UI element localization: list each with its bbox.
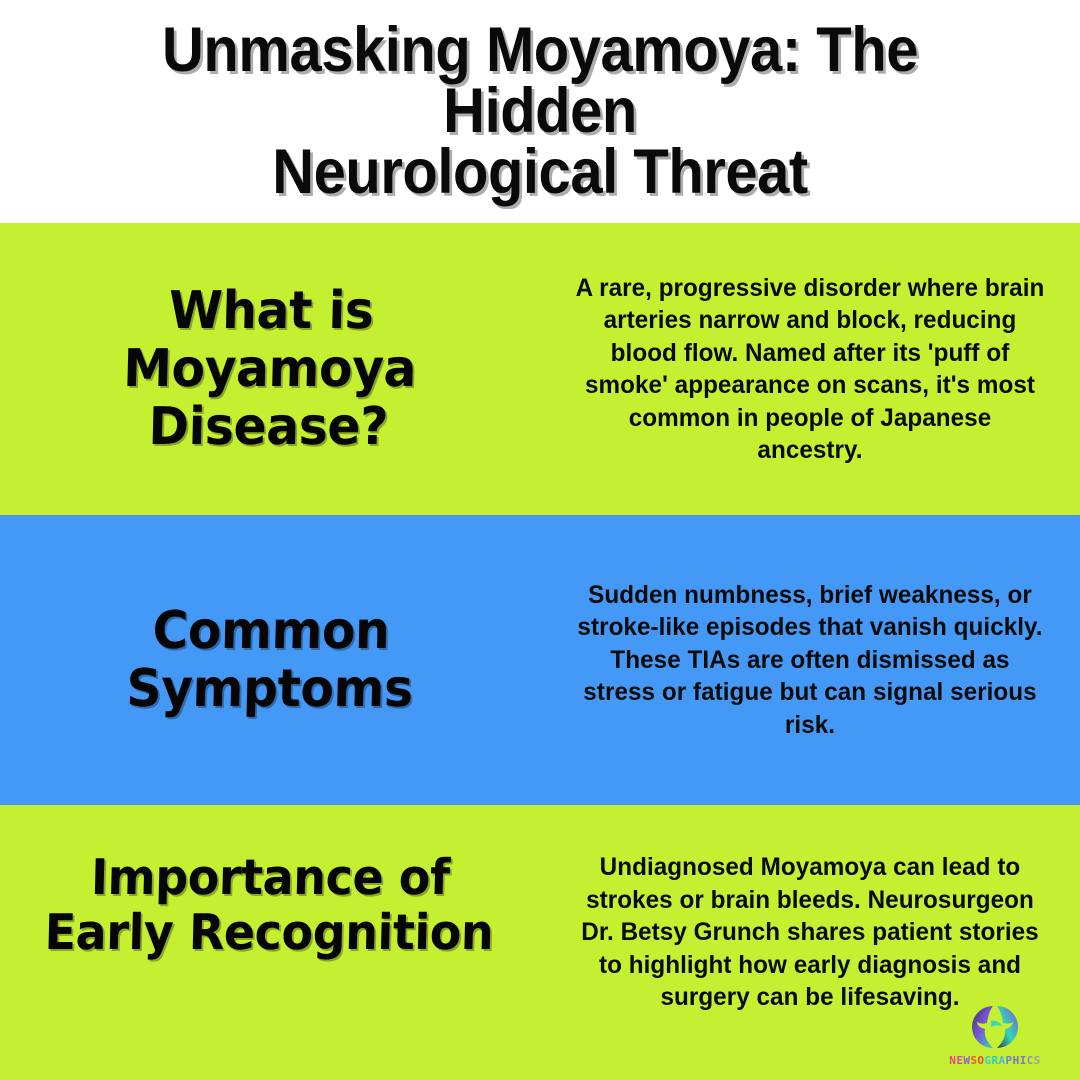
logo-letter: S	[1034, 1055, 1041, 1066]
section-heading: What is Moyamoya Disease?	[122, 282, 419, 457]
section-heading-column: Common Symptoms	[0, 515, 540, 805]
section-heading-column: What is Moyamoya Disease?	[0, 223, 540, 515]
logo-letter: C	[1027, 1055, 1034, 1066]
section-importance-early-recognition: Importance of Early Recognition Undiagno…	[0, 805, 1080, 1080]
title-band: Unmasking Moyamoya: The Hidden Neurologi…	[0, 0, 1080, 223]
section-body-text: Undiagnosed Moyamoya can lead to strokes…	[575, 851, 1044, 1014]
logo-letter: I	[1020, 1055, 1027, 1066]
logo-letter: S	[970, 1055, 977, 1066]
section-what-is-moyamoya: What is Moyamoya Disease? A rare, progre…	[0, 223, 1080, 515]
section-common-symptoms: Common Symptoms Sudden numbness, brief w…	[0, 515, 1080, 805]
logo-letter: N	[949, 1055, 956, 1066]
logo-letter: R	[991, 1055, 998, 1066]
brand-logo: NEWSOGRAPHICS	[934, 1002, 1056, 1066]
logo-wordmark: NEWSOGRAPHICS	[949, 1055, 1040, 1066]
logo-letter: E	[956, 1055, 963, 1066]
section-body-text: Sudden numbness, brief weakness, or stro…	[575, 579, 1044, 742]
section-heading: Importance of Early Recognition	[44, 851, 495, 961]
infographic-canvas: Unmasking Moyamoya: The Hidden Neurologi…	[0, 0, 1080, 1080]
section-body-column: A rare, progressive disorder where brain…	[540, 223, 1080, 515]
globe-icon	[967, 1002, 1023, 1052]
page-title: Unmasking Moyamoya: The Hidden Neurologi…	[126, 20, 954, 203]
section-body-column: Sudden numbness, brief weakness, or stro…	[540, 515, 1080, 805]
section-body-text: A rare, progressive disorder where brain…	[575, 272, 1044, 467]
logo-letter: W	[963, 1055, 970, 1066]
section-heading-column: Importance of Early Recognition	[0, 805, 540, 1080]
logo-letter: H	[1013, 1055, 1020, 1066]
logo-letter: P	[1006, 1055, 1013, 1066]
logo-letter: G	[984, 1055, 991, 1066]
logo-letter: A	[999, 1055, 1006, 1066]
logo-letter: O	[977, 1055, 984, 1066]
section-heading: Common Symptoms	[125, 602, 414, 718]
